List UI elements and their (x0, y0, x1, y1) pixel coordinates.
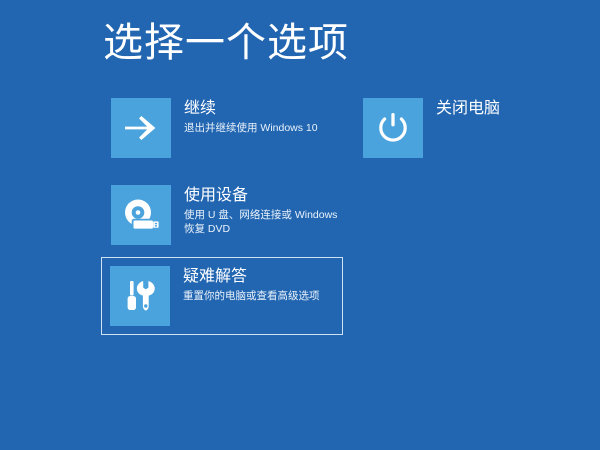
option-use-a-device-tile (111, 185, 171, 245)
option-troubleshoot-labels: 疑难解答 重置你的电脑或查看高级选项 (170, 266, 334, 303)
power-icon (377, 112, 409, 144)
option-turn-off-your-pc-title: 关闭电脑 (436, 99, 500, 118)
option-use-a-device-title: 使用设备 (184, 186, 341, 205)
option-continue-title: 继续 (184, 99, 341, 118)
option-troubleshoot[interactable]: 疑难解答 重置你的电脑或查看高级选项 (101, 257, 343, 335)
option-continue-subtitle: 退出并继续使用 Windows 10 (184, 121, 364, 135)
option-use-a-device-labels: 使用设备 使用 U 盘、网络连接或 Windows 恢复 DVD (171, 185, 341, 236)
option-troubleshoot-subtitle: 重置你的电脑或查看高级选项 (183, 289, 345, 303)
page-title: 选择一个选项 (103, 19, 349, 67)
option-use-a-device-subtitle: 使用 U 盘、网络连接或 Windows 恢复 DVD (184, 208, 346, 236)
option-continue[interactable]: 继续 退出并继续使用 Windows 10 (110, 97, 342, 159)
options-column-right: 关闭电脑 (362, 97, 542, 159)
option-use-a-device[interactable]: 使用设备 使用 U 盘、网络连接或 Windows 恢复 DVD (110, 184, 342, 246)
disc-usb-device-icon (121, 198, 161, 232)
option-troubleshoot-title: 疑难解答 (183, 267, 334, 286)
option-turn-off-your-pc-tile (363, 98, 423, 158)
options-column-left: 继续 退出并继续使用 Windows 10 (110, 97, 342, 335)
screwdriver-wrench-icon (124, 279, 156, 313)
option-troubleshoot-tile (110, 266, 170, 326)
option-turn-off-your-pc-labels: 关闭电脑 (423, 98, 500, 118)
option-continue-labels: 继续 退出并继续使用 Windows 10 (171, 98, 341, 135)
option-continue-tile (111, 98, 171, 158)
arrow-right-icon (124, 115, 158, 141)
option-turn-off-your-pc[interactable]: 关闭电脑 (362, 97, 542, 159)
recovery-options-screen: 选择一个选项 继续 退出并继续使用 Windows 10 (0, 0, 600, 450)
